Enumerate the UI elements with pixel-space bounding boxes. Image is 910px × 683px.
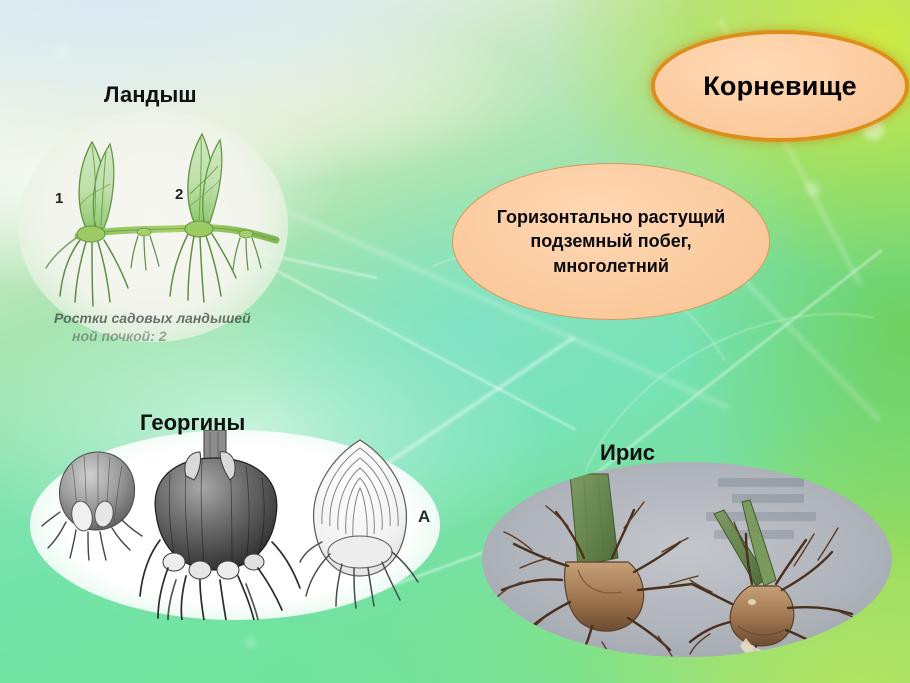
title-ellipse: Корневище — [655, 34, 905, 138]
description-text: Горизонтально растущий подземный побег, … — [491, 205, 731, 278]
svg-text:A: A — [418, 507, 430, 526]
bokeh-4 — [56, 46, 68, 58]
figure-landysh-number-1: 1 — [55, 190, 63, 207]
figure-landysh-number-2: 2 — [175, 186, 183, 203]
figure-iris-image — [482, 462, 892, 657]
figure-label-landysh: Ландыш — [104, 82, 197, 108]
figure-label-georginy: Георгины — [140, 410, 245, 436]
page-title: Корневище — [703, 71, 857, 102]
figure-landysh-image — [18, 110, 288, 342]
description-ellipse: Горизонтально растущий подземный побег, … — [452, 163, 770, 320]
figure-georginy-image: A — [30, 430, 440, 620]
bokeh-3 — [246, 638, 256, 648]
bokeh-2 — [806, 182, 820, 196]
figure-landysh-caption-line2: ной почкой: 2 — [72, 328, 167, 344]
figure-label-iris: Ирис — [600, 440, 655, 466]
slide-canvas: Корневище Горизонтально растущий подземн… — [0, 0, 910, 683]
figure-landysh-caption-line1: Ростки садовых ландышей — [54, 310, 251, 326]
